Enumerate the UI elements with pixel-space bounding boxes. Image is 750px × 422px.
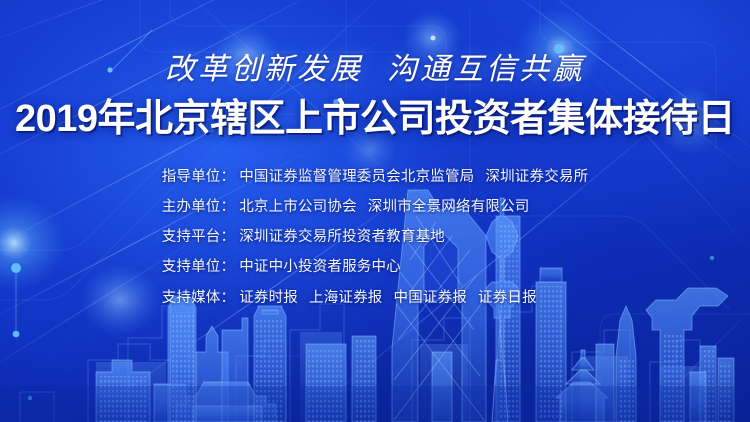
credit-row: 主办单位：北京上市公司协会深圳市全景网络有限公司 <box>162 193 530 221</box>
credit-row: 支持媒体：证券时报上海证券报中国证券报证券日报 <box>162 284 537 312</box>
credit-value: 中证中小投资者服务中心 <box>239 259 401 275</box>
credit-row: 指导单位：中国证券监督管理委员会北京监管局深圳证券交易所 <box>162 163 589 191</box>
credit-row: 支持单位：中证中小投资者服务中心 <box>162 253 401 281</box>
credit-value: 证券日报 <box>478 290 537 306</box>
credit-value: 深圳证券交易所 <box>485 169 588 185</box>
credits-list: 指导单位：中国证券监督管理委员会北京监管局深圳证券交易所 主办单位：北京上市公司… <box>162 163 589 312</box>
calligraphy-slogan: 改革创新发展沟通互信共赢 <box>165 44 585 88</box>
credit-label: 支持媒体： <box>162 290 236 306</box>
credit-label: 主办单位： <box>162 199 236 215</box>
credit-value: 证券时报 <box>239 290 298 306</box>
page-title: 2019年北京辖区上市公司投资者集体接待日 <box>15 98 735 141</box>
credit-value: 上海证券报 <box>309 290 383 306</box>
credit-value: 中国证券监督管理委员会北京监管局 <box>239 169 474 185</box>
credit-value: 深圳证券交易所投资者教育基地 <box>239 229 445 245</box>
credit-label: 支持单位： <box>162 259 236 275</box>
calligraphy-slogan-right: 沟通互信共赢 <box>387 53 585 86</box>
event-banner: 改革创新发展沟通互信共赢 2019年北京辖区上市公司投资者集体接待日 指导单位：… <box>0 0 750 422</box>
credit-value: 北京上市公司协会 <box>239 199 357 215</box>
calligraphy-slogan-left: 改革创新发展 <box>165 53 363 86</box>
credit-value: 中国证券报 <box>394 290 468 306</box>
credit-value: 深圳市全景网络有限公司 <box>368 199 530 215</box>
credit-row: 支持平台：深圳证券交易所投资者教育基地 <box>162 223 445 251</box>
credit-label: 指导单位： <box>162 169 236 185</box>
credit-label: 支持平台： <box>162 229 236 245</box>
